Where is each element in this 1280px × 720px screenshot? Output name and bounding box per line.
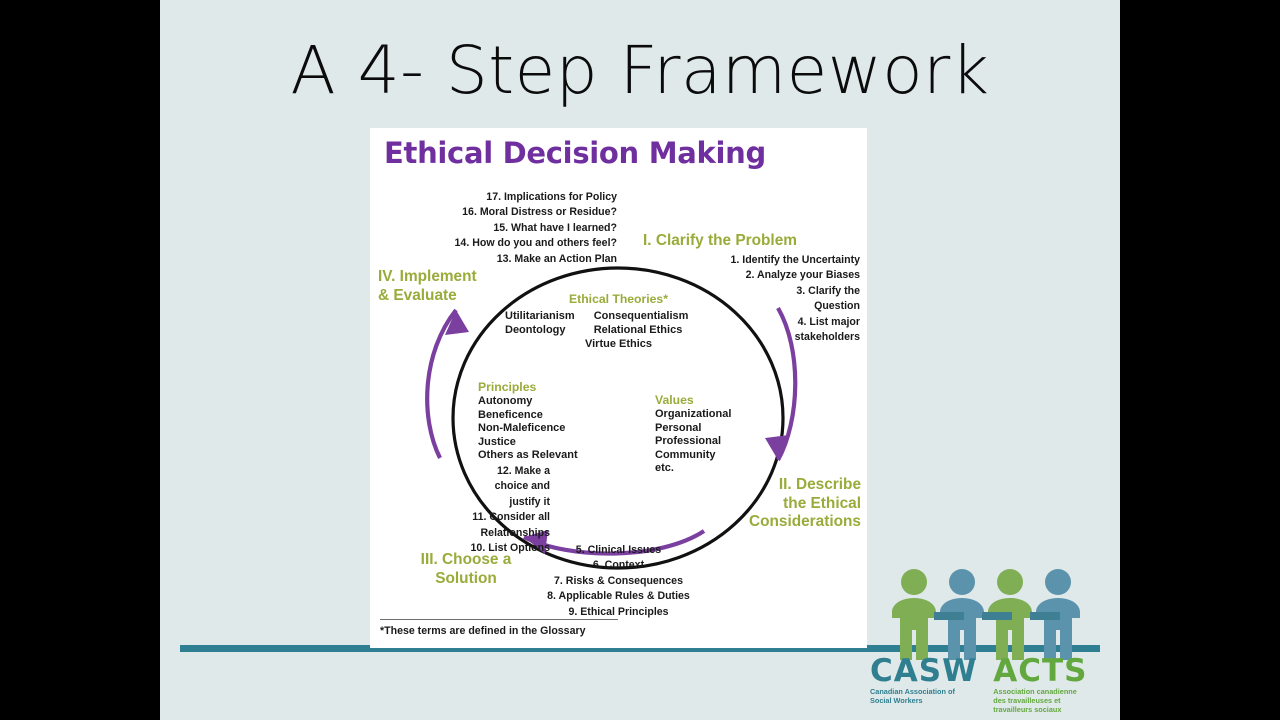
list-item: Relational Ethics xyxy=(594,324,689,338)
list-item: 15. What have I learned? xyxy=(455,221,617,236)
step-ii-heading-line2: the Ethical xyxy=(749,495,861,514)
joined-hands-icon xyxy=(934,612,1060,620)
step-ii-heading-line1: II. Describe xyxy=(749,476,861,495)
principles-block: Principles Autonomy Beneficence Non-Male… xyxy=(478,380,578,463)
list-item: Non-Maleficence xyxy=(478,422,578,436)
list-item: Consequentialism xyxy=(594,310,689,324)
casw-subtitle-line1: Canadian Association of xyxy=(870,687,977,696)
casw-name: CASW xyxy=(870,656,977,687)
step-iv-heading-line1: IV. Implement xyxy=(378,268,477,287)
list-item: 8. Applicable Rules & Duties xyxy=(370,589,867,604)
list-item: 1. Identify the Uncertainty xyxy=(730,253,860,268)
list-item: Utilitarianism xyxy=(505,310,575,324)
list-item: 9. Ethical Principles xyxy=(370,605,867,620)
footnote-divider xyxy=(380,619,618,620)
slide-canvas: A 4- Step Framework Ethical Decision Mak… xyxy=(0,0,1280,720)
people-holding-hands-icon xyxy=(884,568,1089,660)
list-item: Beneficence xyxy=(478,409,578,423)
list-item: choice and xyxy=(370,479,550,494)
list-item: Relationships xyxy=(370,526,550,541)
logo-wordmark: CASW Canadian Association of Social Work… xyxy=(870,656,1100,715)
figure-1-icon xyxy=(892,569,936,660)
list-item: 14. How do you and others feel? xyxy=(455,236,617,251)
page-title: A 4- Step Framework xyxy=(160,36,1120,105)
ethical-theories-virtue-ethics: Virtue Ethics xyxy=(370,338,867,352)
cycle-arrow-left xyxy=(427,310,469,458)
step-iii-item-list: 12. Make a choice and justify it 11. Con… xyxy=(370,464,550,556)
list-item: 12. Make a xyxy=(370,464,550,479)
casw-subtitle-line2: Social Workers xyxy=(870,696,977,705)
step-iii-heading-line2: Solution xyxy=(370,570,562,589)
list-item: Community xyxy=(655,449,731,463)
step-i-heading: I. Clarify the Problem xyxy=(643,232,797,251)
glossary-footnote: *These terms are defined in the Glossary xyxy=(380,625,585,637)
step-ii-heading-line3: Considerations xyxy=(749,513,861,532)
casw-wordmark: CASW Canadian Association of Social Work… xyxy=(870,656,977,715)
list-item: Organizational xyxy=(655,408,731,422)
acts-name: ACTS xyxy=(993,656,1100,687)
step-ii-heading: II. Describe the Ethical Considerations xyxy=(749,476,861,532)
list-item: justify it xyxy=(370,495,550,510)
list-item: Personal xyxy=(655,422,731,436)
ethical-theories-columns: Utilitarianism Deontology Consequentiali… xyxy=(505,310,735,337)
list-item: 4. List major xyxy=(730,315,860,330)
acts-subtitle-line1: Association canadienne xyxy=(993,687,1100,696)
list-item: Others as Relevant xyxy=(478,449,578,463)
list-item: 11. Consider all xyxy=(370,510,550,525)
acts-subtitle-line2: des travailleuses et travailleurs sociau… xyxy=(993,696,1100,714)
values-block: Values Organizational Personal Professio… xyxy=(655,393,731,476)
ethical-decision-making-diagram: Ethical Decision Making 17 xyxy=(370,128,867,648)
list-item: Deontology xyxy=(505,324,575,338)
step-iii-heading: III. Choose a Solution xyxy=(370,551,562,588)
ethical-theories-column-left: Utilitarianism Deontology xyxy=(505,310,575,337)
list-item: 2. Analyze your Biases xyxy=(730,268,860,283)
list-item: 17. Implications for Policy xyxy=(455,190,617,205)
list-item: 16. Moral Distress or Residue? xyxy=(455,205,617,220)
list-item: Justice xyxy=(478,436,578,450)
list-item: Autonomy xyxy=(478,395,578,409)
values-heading: Values xyxy=(655,393,731,408)
acts-wordmark: ACTS Association canadienne des travaill… xyxy=(993,656,1100,715)
presentation-slide: A 4- Step Framework Ethical Decision Mak… xyxy=(160,0,1120,720)
ethical-theories-heading: Ethical Theories* xyxy=(370,292,867,307)
casw-acts-logo: CASW Canadian Association of Social Work… xyxy=(870,568,1100,716)
list-item: Professional xyxy=(655,435,731,449)
list-item: etc. xyxy=(655,462,731,476)
ethical-theories-column-right: Consequentialism Relational Ethics xyxy=(594,310,689,337)
principles-heading: Principles xyxy=(478,380,578,395)
step-iv-item-list: 17. Implications for Policy 16. Moral Di… xyxy=(455,190,617,267)
step-iii-heading-line1: III. Choose a xyxy=(370,551,562,570)
list-item: 13. Make an Action Plan xyxy=(455,252,617,267)
